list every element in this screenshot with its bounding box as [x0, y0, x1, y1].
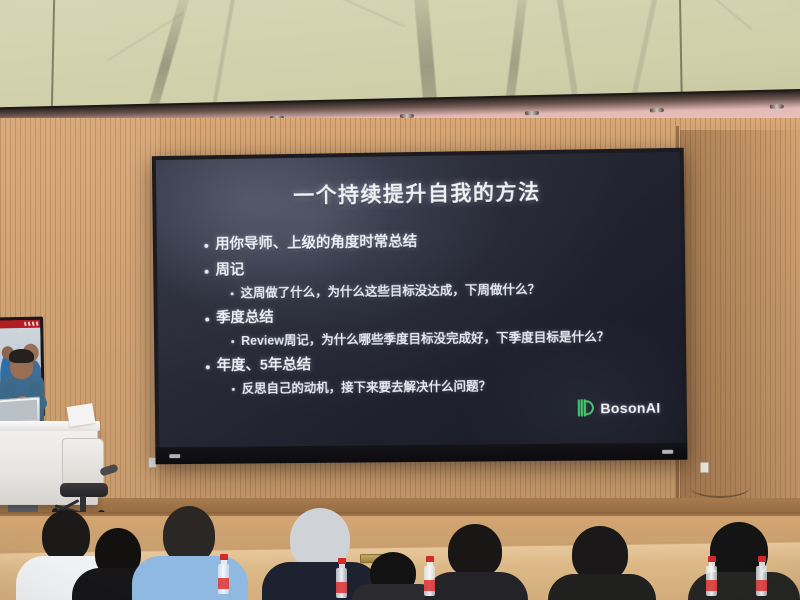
bullet-text: 用你导师、上级的角度时常总结: [215, 234, 417, 253]
marble-vein: [499, 0, 529, 108]
bullet-item: 季度总结: [205, 305, 655, 327]
ceiling-light: [770, 104, 784, 108]
water-bottle: [336, 558, 347, 598]
slide-bullet-list: 用你导师、上级的角度时常总结 周记 这周做了什么，为什么这些目标没达成，下周做什…: [182, 231, 656, 397]
bullet-text: 季度总结: [216, 309, 274, 326]
screen-status-led: [662, 450, 673, 454]
sub-bullet-item: Review周记，为什么哪些季度目标没完成好，下季度目标是什么？: [231, 330, 656, 349]
bullet-dot-icon: [205, 317, 209, 321]
sub-bullet-item: 反思自己的动机，接下来要去解决什么问题？: [232, 378, 657, 397]
bullet-dot-icon: [204, 244, 208, 248]
attendee-body: [688, 572, 800, 600]
presentation-slide: 一个持续提升自我的方法 用你导师、上级的角度时常总结 周记 这周做了什么，为什么…: [156, 152, 683, 448]
sub-bullet-item: 这周做了什么，为什么这些目标没达成，下周做什么？: [231, 281, 656, 301]
wall-outlet: [700, 462, 709, 473]
water-bottle: [756, 556, 767, 596]
office-chair-seat: [60, 483, 108, 497]
presenter-hair: [9, 349, 34, 363]
marble-vein: [135, 0, 194, 108]
bullet-text: 年度、5年总结: [217, 357, 312, 375]
marble-vein: [295, 0, 405, 27]
bullet-text: Review周记，为什么哪些季度目标没完成好，下季度目标是什么？: [241, 330, 609, 349]
panel-seam: [51, 0, 55, 108]
ceiling-light: [525, 111, 539, 115]
screen-status-led: [169, 454, 180, 458]
attendee-body: [548, 574, 656, 600]
bosonai-logo-text: BosonAI: [600, 399, 660, 416]
bullet-dot-icon: [205, 269, 209, 273]
bullet-item: 用你导师、上级的角度时常总结: [204, 231, 654, 254]
projection-screen: 一个持续提升自我的方法 用你导师、上级的角度时常总结 周记 这周做了什么，为什么…: [152, 148, 688, 464]
attendee-body: [132, 556, 248, 600]
marble-vein: [552, 0, 585, 108]
attendee-head: [448, 524, 502, 578]
bosonai-logo: BosonAI: [578, 399, 661, 417]
laptop-screen: [0, 400, 37, 423]
marble-vein: [412, 0, 443, 108]
bullet-text: 这周做了什么，为什么这些目标没达成，下周做什么？: [241, 283, 541, 301]
wall-shadow: [680, 130, 800, 510]
slide-title: 一个持续提升自我的方法: [182, 174, 654, 211]
water-bottle: [424, 556, 435, 596]
bullet-dot-icon: [232, 388, 235, 391]
bullet-dot-icon: [231, 293, 234, 296]
water-bottle: [706, 556, 717, 596]
lecture-hall-photo: 一个持续提升自我的方法 用你导师、上级的角度时常总结 周记 这周做了什么，为什么…: [0, 0, 800, 600]
bullet-text: 周记: [215, 262, 244, 279]
bullet-text: 反思自己的动机，接下来要去解决什么问题？: [242, 380, 492, 397]
attendee-head: [42, 510, 90, 562]
marble-vein: [698, 0, 753, 30]
bosonai-wave-mark-icon: [578, 399, 594, 416]
marble-vein: [207, 0, 237, 108]
office-chair-back: [62, 438, 104, 486]
slide-surface: 一个持续提升自我的方法 用你导师、上级的角度时常总结 周记 这周做了什么，为什么…: [156, 152, 683, 448]
bullet-item: 年度、5年总结: [206, 353, 656, 375]
bullet-dot-icon: [231, 341, 234, 344]
ceiling-light: [650, 108, 664, 112]
bullet-dot-icon: [206, 365, 210, 369]
lectern-paper: [67, 403, 96, 427]
water-bottle: [218, 554, 229, 594]
attendee-body: [424, 572, 528, 600]
floor-cable: [690, 476, 750, 498]
bullet-item: 周记: [205, 257, 655, 280]
